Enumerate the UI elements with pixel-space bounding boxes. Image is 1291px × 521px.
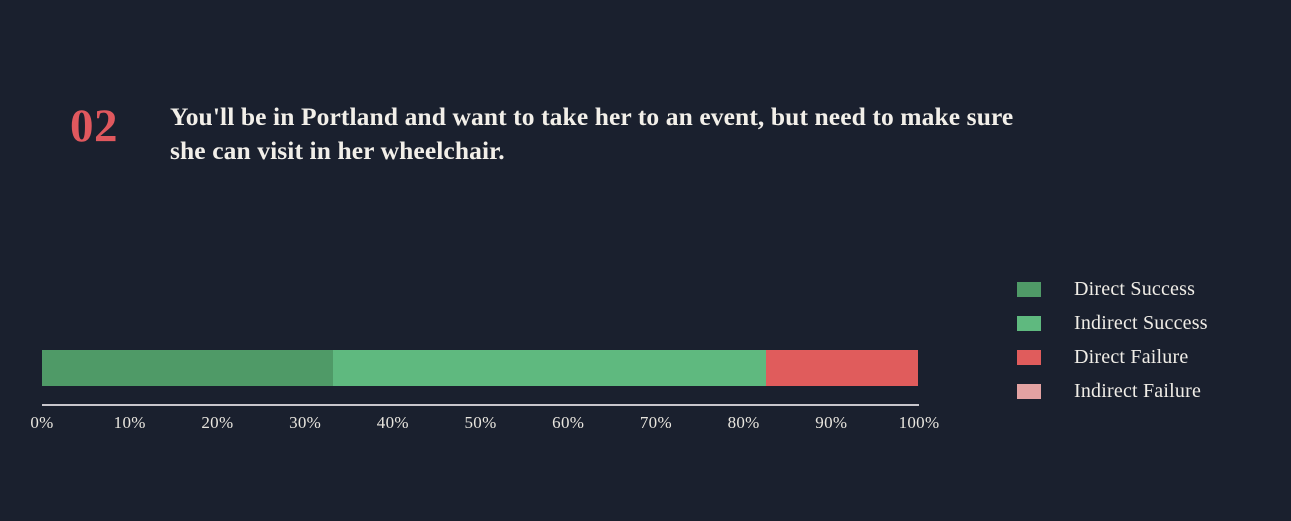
x-tick-label: 80% <box>728 413 760 433</box>
legend-item[interactable]: Indirect Failure <box>1017 374 1277 408</box>
legend-swatch-icon <box>1017 282 1041 297</box>
x-tick-label: 50% <box>464 413 496 433</box>
bar-segment-indirect-success <box>333 350 766 386</box>
bar-segment-direct-failure <box>766 350 918 386</box>
legend-swatch-icon <box>1017 350 1041 365</box>
stacked-bar-chart: 0%10%20%30%40%50%60%70%80%90%100% <box>0 0 1291 521</box>
stacked-bar-track <box>42 350 918 386</box>
x-tick-label: 70% <box>640 413 672 433</box>
legend-swatch-icon <box>1017 384 1041 399</box>
legend-item[interactable]: Direct Success <box>1017 272 1277 306</box>
legend-swatch-icon <box>1017 316 1041 331</box>
legend-label: Indirect Success <box>1074 312 1208 335</box>
legend-label: Direct Success <box>1074 278 1195 301</box>
chart-legend: Direct SuccessIndirect SuccessDirect Fai… <box>1017 272 1277 408</box>
legend-label: Indirect Failure <box>1074 380 1201 403</box>
x-axis-tick-labels: 0%10%20%30%40%50%60%70%80%90%100% <box>42 413 919 439</box>
legend-label: Direct Failure <box>1074 346 1188 369</box>
x-tick-label: 20% <box>201 413 233 433</box>
bar-segment-direct-success <box>42 350 333 386</box>
legend-item[interactable]: Direct Failure <box>1017 340 1277 374</box>
x-tick-label: 10% <box>114 413 146 433</box>
x-tick-label: 60% <box>552 413 584 433</box>
legend-item[interactable]: Indirect Success <box>1017 306 1277 340</box>
plot-area <box>42 350 918 386</box>
x-tick-label: 40% <box>377 413 409 433</box>
x-tick-label: 30% <box>289 413 321 433</box>
x-tick-label: 90% <box>815 413 847 433</box>
x-axis-line <box>42 404 919 406</box>
x-tick-label: 100% <box>899 413 940 433</box>
x-tick-label: 0% <box>30 413 53 433</box>
